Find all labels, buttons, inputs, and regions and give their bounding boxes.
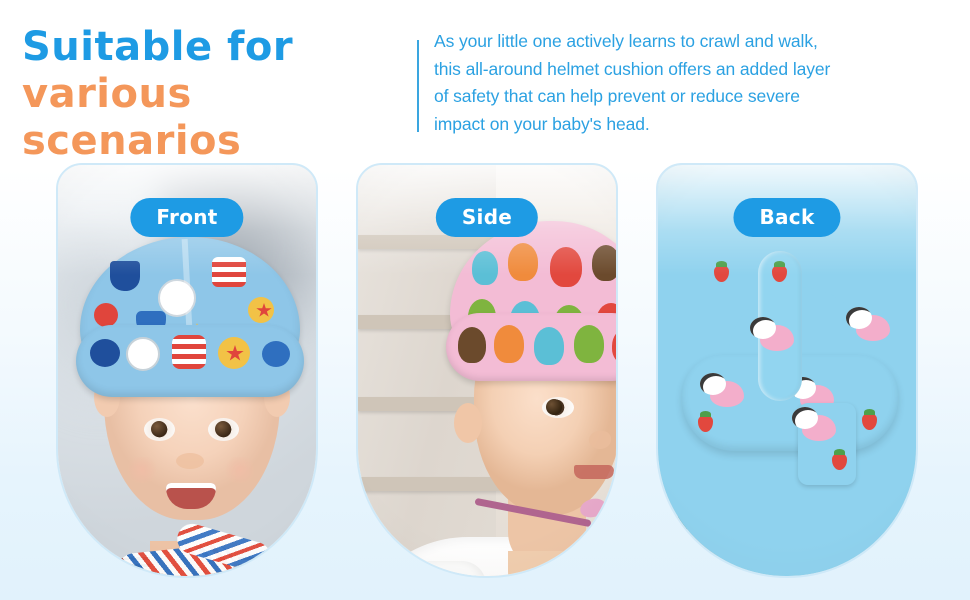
headline-line-1: Suitable for [22,24,412,71]
chin-strap-bow [580,495,616,525]
product-card-front[interactable]: Front [56,163,318,578]
motif-band-navy [90,339,120,367]
stair-step-4 [358,477,508,491]
helmet-band-side [446,313,616,381]
motif-strawberry-2 [862,413,877,430]
motif-red-circle [94,303,118,327]
motif-blue-bag [110,261,140,291]
motif-band-soccer [126,337,160,371]
motif-striped-bag [212,257,246,287]
product-image-gallery: Front [0,163,970,588]
motif-cow-right [856,315,890,341]
badge-back[interactable]: Back [733,198,840,237]
vertical-divider [417,40,419,132]
motif-owl-teal [472,251,498,285]
header-section: Suitable for various scenarios As your l… [0,0,970,160]
motif-band-striped [172,335,206,369]
page-title: Suitable for various scenarios [22,24,412,166]
motif-band-owl-orange [494,325,524,363]
product-card-back[interactable]: Back [656,163,918,578]
bow-loop-left [578,496,608,520]
product-card-side[interactable]: Side [356,163,618,578]
motif-band-owl-blue [534,327,564,365]
description-line-1: As your little one actively learns to cr… [434,28,954,56]
helmet-adjust-tab [798,403,856,485]
description-line-4: impact on your baby's head. [434,111,954,139]
baby-pupil-right [215,421,231,437]
motif-owl-red [550,247,582,287]
headline-line-2: various scenarios [22,71,412,165]
motif-strawberry-tab [832,453,847,470]
motif-strawberry-1 [698,415,713,432]
motif-band-owl-green [574,325,604,363]
motif-owl-orange [508,243,538,281]
baby-ear [454,403,482,443]
motif-band-owl-brown [458,327,486,363]
baby-pupil-left [151,421,167,437]
helmet-band-front [76,325,304,397]
baby-cheek-right [222,457,258,483]
badge-front[interactable]: Front [130,198,243,237]
motif-band-owl-red [612,329,616,363]
motif-cow-strap [760,325,794,351]
badge-side[interactable]: Side [436,198,538,237]
baby-pupil [546,399,562,415]
baby-cheek-left [124,457,160,483]
description-line-3: of safety that can help prevent or reduc… [434,83,954,111]
baby-nose [176,453,204,469]
baby-mouth [574,465,614,479]
description-line-2: this all-around helmet cushion offers an… [434,56,954,84]
motif-owl-brown [592,245,616,281]
shirt-v-neck [508,551,588,576]
motif-cow-1 [710,381,744,407]
motif-strawberry-strap [772,265,787,282]
motif-band-blue-heart [262,341,290,367]
baby-nose [589,431,611,449]
helmet-center-strap [758,251,802,401]
description-text: As your little one actively learns to cr… [434,28,954,139]
motif-cow-tab [802,415,836,441]
